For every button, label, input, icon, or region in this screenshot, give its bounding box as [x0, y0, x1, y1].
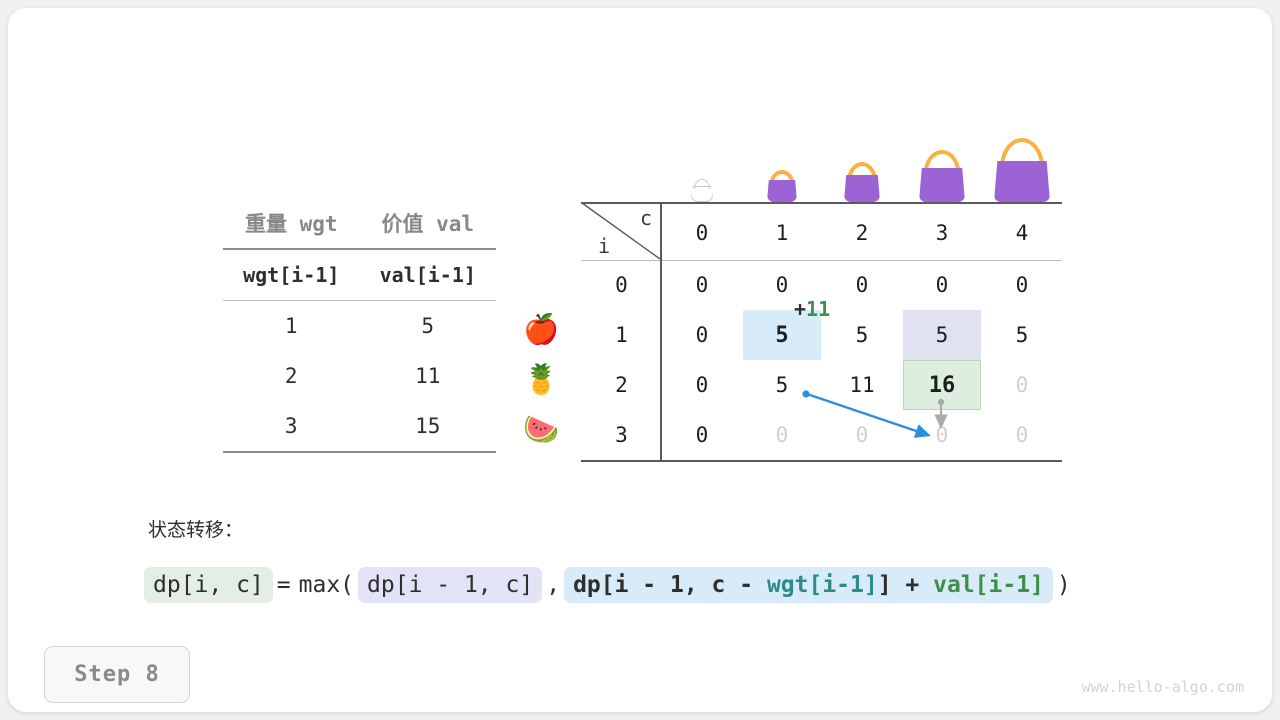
- corner-label-i: i: [598, 234, 610, 258]
- dp-cell-3-3: 0: [902, 410, 982, 460]
- bag-icon-1: [742, 180, 822, 202]
- dp-cell-1-2: 5: [822, 310, 902, 360]
- dp-cell-3-1: 0: [742, 410, 822, 460]
- formula-take-wgt: wgt[i-1]: [767, 572, 878, 598]
- dp-cell-0-4: 0: [982, 260, 1062, 310]
- dp-row-header-3: 3: [581, 410, 662, 460]
- dp-cell-2-3: 16: [902, 360, 982, 410]
- gain-sign: +: [794, 297, 806, 321]
- watermelon-icon: 🍉: [513, 404, 569, 454]
- item-table-header-row: 重量 wgt 价值 val: [223, 198, 496, 248]
- item-weight-1: 1: [223, 314, 360, 338]
- dp-col-header-3: 3: [902, 208, 982, 258]
- dp-row-header-0: 0: [581, 260, 662, 310]
- dp-col-header-0: 0: [662, 208, 742, 258]
- slide-card: 重量 wgt 价值 val wgt[i-1] val[i-1] 1 5 2 11…: [8, 8, 1272, 712]
- dp-cell-0-0: 0: [662, 260, 742, 310]
- item-header-value: 价值 val: [360, 208, 497, 238]
- item-row: 1 5: [223, 301, 496, 351]
- item-row: 2 11: [223, 351, 496, 401]
- dp-cell-2-2: 11: [822, 360, 902, 410]
- formula-arg-take: dp[i - 1, c - wgt[i-1]] + val[i-1]: [564, 567, 1053, 603]
- formula-max-open: max(: [295, 572, 358, 598]
- item-value-1: 5: [360, 314, 497, 338]
- dp-cell-3-2: 0: [822, 410, 902, 460]
- item-header-weight: 重量 wgt: [223, 208, 360, 238]
- item-value-2: 11: [360, 364, 497, 388]
- state-transition-formula: dp[i, c] = max( dp[i - 1, c] , dp[i - 1,…: [144, 567, 1075, 603]
- dp-cell-2-4: 0: [982, 360, 1062, 410]
- dp-cell-3-4: 0: [982, 410, 1062, 460]
- dp-cell-1-0: 0: [662, 310, 742, 360]
- dp-col-header-4: 4: [982, 208, 1062, 258]
- formula-take-val: val[i-1]: [933, 572, 1044, 598]
- dp-cell-3-0: 0: [662, 410, 742, 460]
- item-table-rule-bottom: [223, 451, 496, 453]
- gain-annotation: +11: [794, 297, 830, 321]
- item-value-3: 15: [360, 414, 497, 438]
- formula-take-prefix: dp[i - 1, c -: [573, 572, 767, 598]
- dp-grid-hline: [581, 202, 1062, 204]
- formula-equals: =: [273, 572, 295, 598]
- dp-grid-hline: [581, 460, 1062, 462]
- bag-icon-3: [902, 168, 982, 202]
- dp-cell-2-0: 0: [662, 360, 742, 410]
- item-subheader-wgt: wgt[i-1]: [223, 263, 360, 287]
- pineapple-icon: 🍍: [513, 354, 569, 404]
- formula-comma: ,: [542, 572, 564, 598]
- item-row: 3 15: [223, 401, 496, 451]
- watermark: www.hello-algo.com: [1081, 678, 1244, 696]
- dp-col-header-1: 1: [742, 208, 822, 258]
- gain-value: 11: [806, 297, 830, 321]
- item-weight-2: 2: [223, 364, 360, 388]
- formula-close: ): [1053, 572, 1075, 598]
- formula-take-mid: ] +: [878, 572, 933, 598]
- dp-row-header-1: 1: [581, 310, 662, 360]
- corner-label-c: c: [640, 206, 652, 230]
- caption-text: 状态转移：: [148, 515, 243, 542]
- formula-target: dp[i, c]: [144, 567, 273, 603]
- bag-icon-2: [822, 175, 902, 202]
- item-subheader-val: val[i-1]: [360, 263, 497, 287]
- item-table: 重量 wgt 价值 val wgt[i-1] val[i-1] 1 5 2 11…: [223, 198, 496, 453]
- dp-cell-1-3: 5: [902, 310, 982, 360]
- item-weight-3: 3: [223, 414, 360, 438]
- bag-icon-row: [581, 138, 1062, 202]
- dp-corner-header: c i: [581, 202, 662, 260]
- apple-icon: 🍎: [513, 304, 569, 354]
- dp-col-header-2: 2: [822, 208, 902, 258]
- dp-cell-0-3: 0: [902, 260, 982, 310]
- bag-icon-4: [982, 161, 1062, 202]
- step-badge: Step 8: [44, 646, 190, 703]
- dp-row-header-2: 2: [581, 360, 662, 410]
- dp-cell-0-2: 0: [822, 260, 902, 310]
- formula-arg-skip: dp[i - 1, c]: [358, 567, 542, 603]
- dp-table: c i 0123400000010555520511160300000 +11: [581, 138, 1062, 202]
- dp-cell-2-1: 5: [742, 360, 822, 410]
- bag-icon-0: [662, 186, 742, 202]
- fruit-column: 🍎 🍍 🍉: [513, 304, 569, 454]
- dp-cell-1-4: 5: [982, 310, 1062, 360]
- item-table-subheader-row: wgt[i-1] val[i-1]: [223, 250, 496, 300]
